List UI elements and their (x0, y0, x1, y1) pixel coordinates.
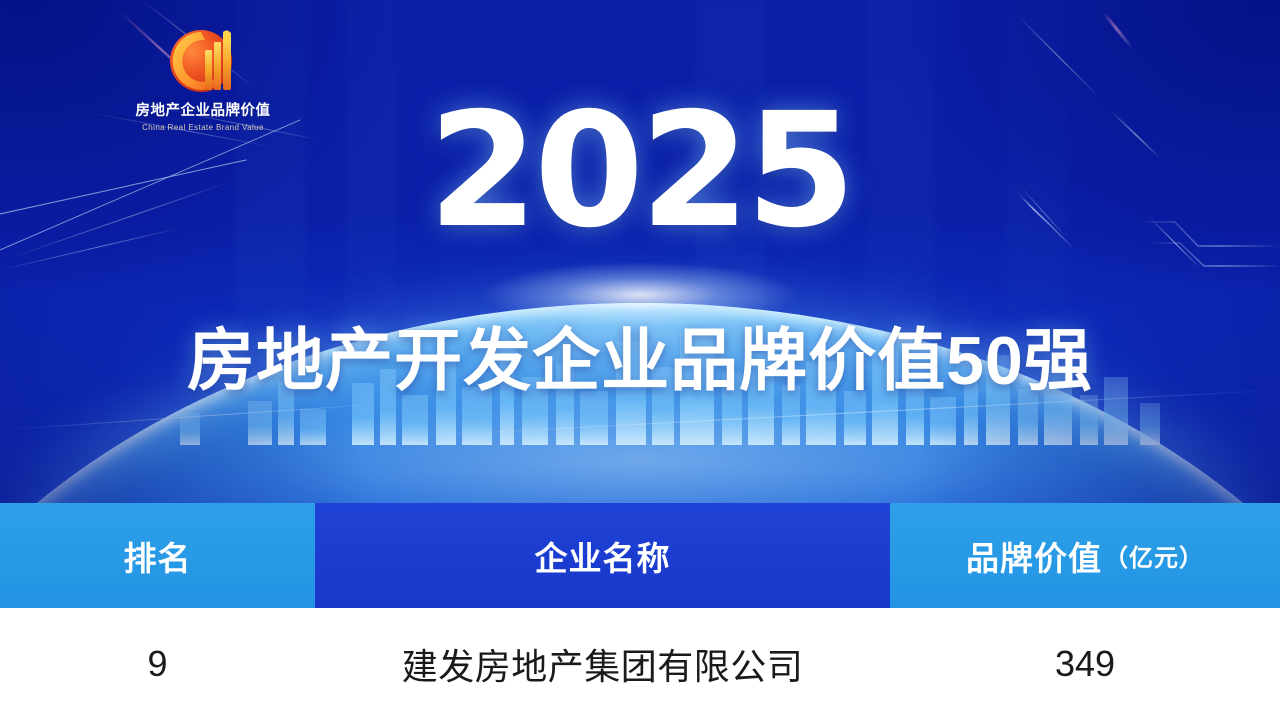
column-header-company-label: 企业名称 (535, 532, 671, 580)
column-header-brand-value-label: 品牌价值 (966, 532, 1102, 580)
ranking-table: 排名 企业名称 品牌价值 （亿元） 9 建发房地产集团有限公司 349 (0, 503, 1280, 720)
table-row: 9 建发房地产集团有限公司 349 (0, 608, 1280, 720)
column-header-rank-label: 排名 (124, 532, 192, 580)
column-header-rank: 排名 (0, 503, 315, 608)
real-estate-brand-emblem-icon (161, 20, 245, 98)
column-header-brand-value-unit: （亿元） (1104, 538, 1204, 573)
poster-page: 房地产企业品牌价值 China Real Estate Brand Value … (0, 0, 1280, 720)
column-header-company: 企业名称 (315, 503, 890, 608)
cell-brand-value: 349 (890, 608, 1280, 720)
hero-banner: 房地产企业品牌价值 China Real Estate Brand Value … (0, 0, 1280, 503)
poster-year: 2025 (0, 92, 1280, 250)
cell-company: 建发房地产集团有限公司 (315, 608, 890, 720)
poster-subtitle: 房地产开发企业品牌价值50强 (0, 305, 1280, 404)
cell-rank: 9 (0, 608, 315, 720)
table-header-row: 排名 企业名称 品牌价值 （亿元） (0, 503, 1280, 608)
column-header-brand-value: 品牌价值 （亿元） (890, 503, 1280, 608)
